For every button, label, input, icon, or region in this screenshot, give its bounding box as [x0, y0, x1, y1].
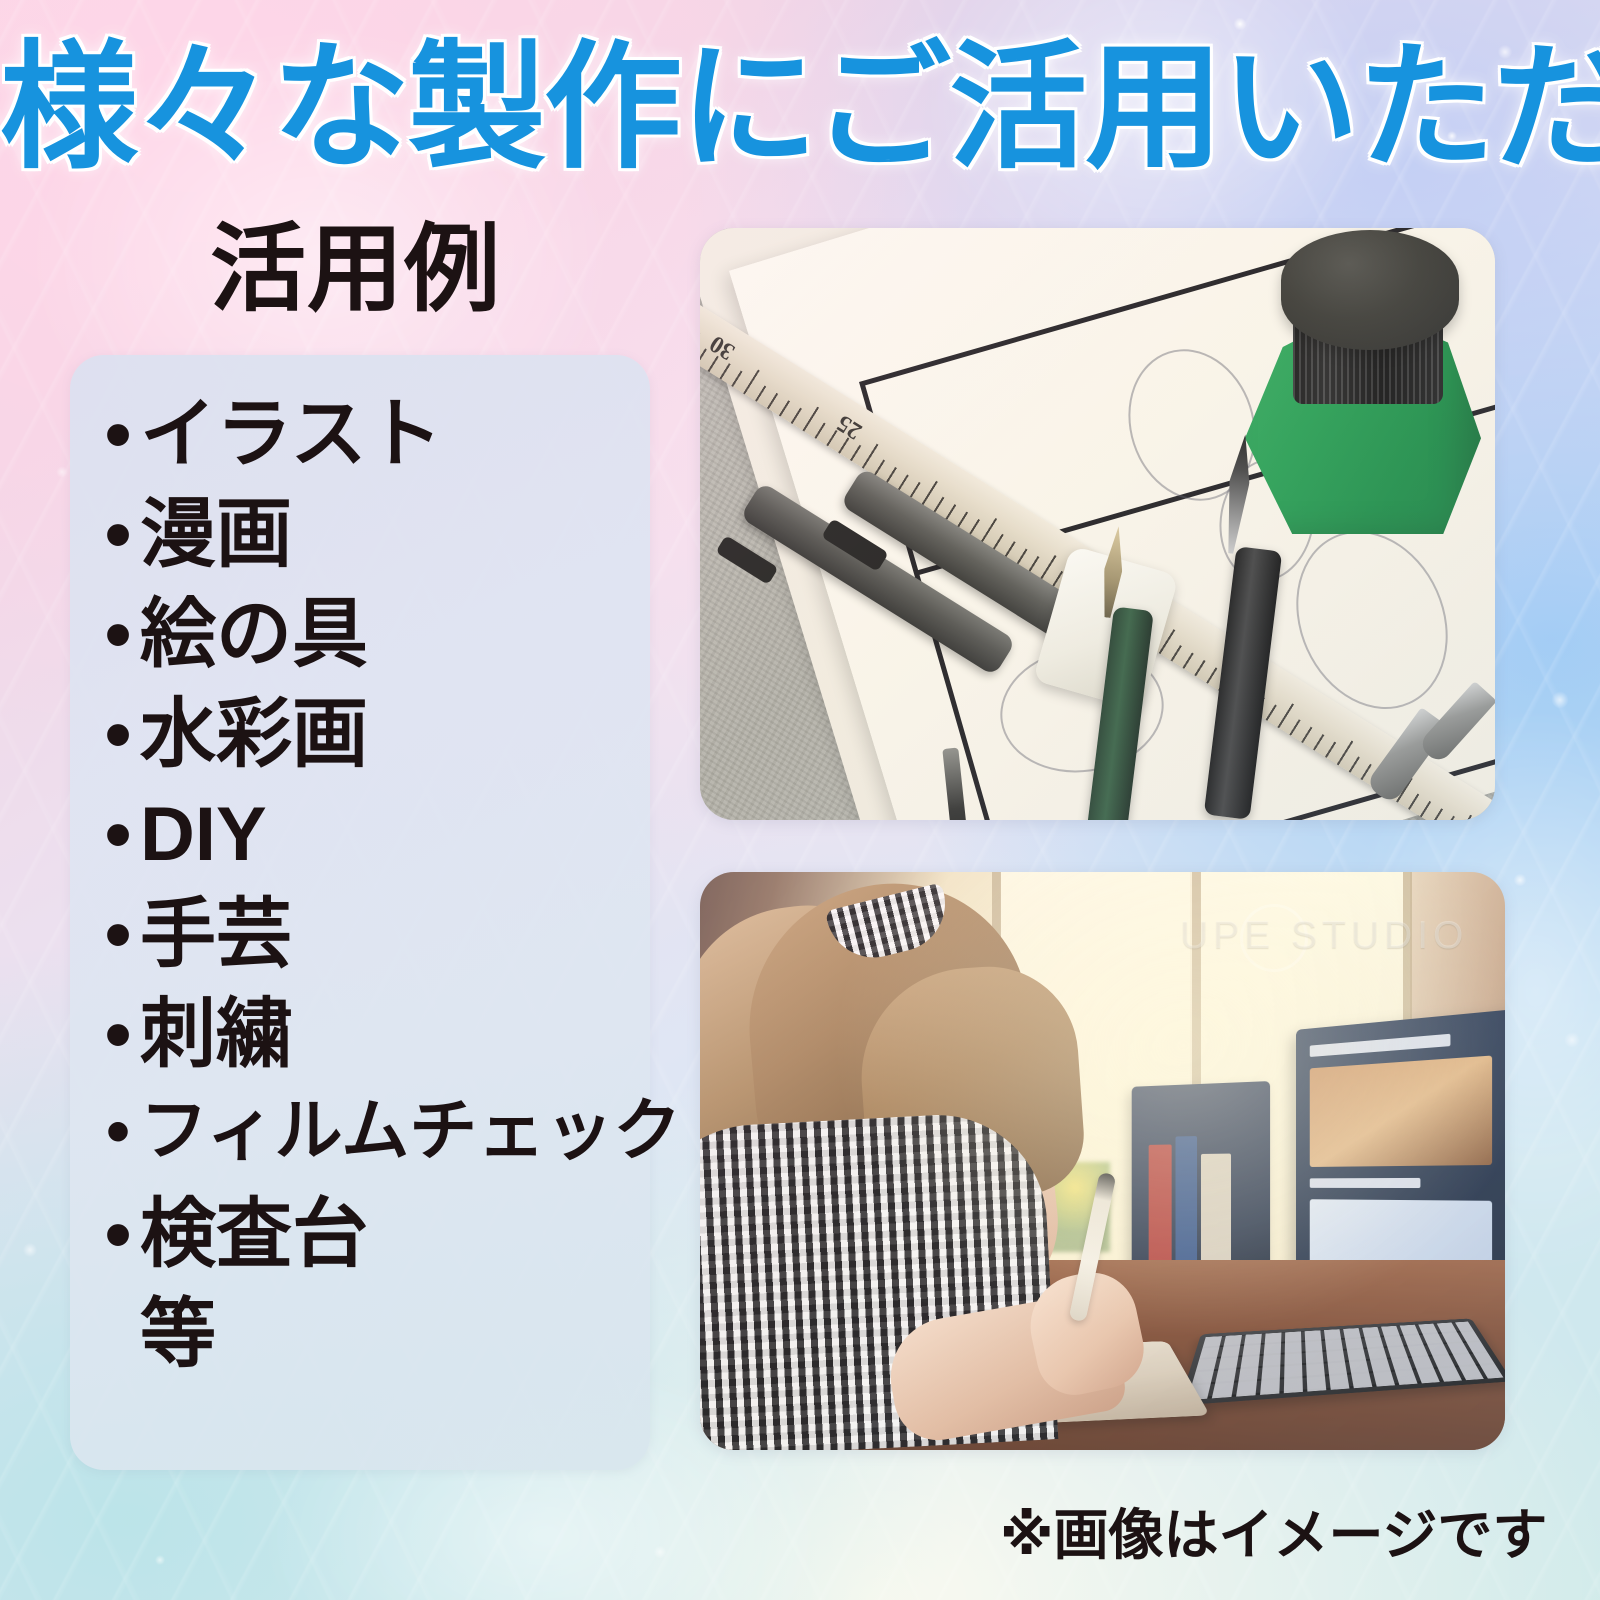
list-item: • 絵の具	[96, 597, 636, 697]
list-item-label: 刺繍	[140, 997, 292, 1073]
list-item-label: イラスト	[140, 397, 442, 473]
list-item: • 検査台	[96, 1197, 636, 1297]
screen-ui-row	[1310, 1034, 1451, 1057]
person-illustrator	[700, 872, 1110, 1450]
list-item: • DIY	[96, 797, 636, 897]
bullet-icon: •	[96, 1197, 140, 1273]
image-disclaimer: ※画像はイメージです	[1000, 1490, 1547, 1570]
ink-bottle	[1237, 234, 1487, 534]
bullet-icon: •	[96, 897, 140, 973]
shelf-book	[1176, 1136, 1198, 1264]
photo-manga-desk: 25 30	[700, 228, 1495, 820]
list-item-label: 漫画	[140, 497, 292, 573]
bullet-icon: •	[96, 497, 140, 573]
list-item-label: 水彩画	[140, 697, 368, 773]
list-item: 等	[96, 1297, 636, 1397]
list-item: • イラスト	[96, 397, 636, 497]
list-item-label: 手芸	[140, 897, 292, 973]
photo-woman-at-desk-canvas: UPE STUDIO	[700, 872, 1505, 1450]
shelf-book	[1201, 1154, 1231, 1265]
screen-ui-row	[1310, 1178, 1421, 1188]
list-item-label: 検査台	[140, 1197, 368, 1273]
list-item-label: 等	[140, 1297, 216, 1373]
photo-woman-at-desk: UPE STUDIO	[700, 872, 1505, 1450]
list-item-label: DIY	[140, 797, 267, 873]
bullet-icon: •	[96, 697, 140, 773]
shelf-book	[1149, 1144, 1172, 1263]
bullet-icon: •	[96, 797, 140, 873]
list-item: • フィルムチェック	[96, 1097, 636, 1197]
usage-list-panel: • イラスト • 漫画 • 絵の具 • 水彩画 • DIY • 手芸	[70, 355, 650, 1470]
list-item: • 手芸	[96, 897, 636, 997]
promo-poster: 様々な製作にご活用いただけます 活用例 • イラスト • 漫画 • 絵の具 • …	[0, 0, 1600, 1600]
list-item: • 刺繍	[96, 997, 636, 1097]
bullet-icon: •	[96, 1097, 140, 1165]
page-title: 様々な製作にご活用いただけます	[0, 34, 1600, 183]
ink-bottle-cap	[1281, 230, 1459, 350]
bullet-icon: •	[96, 597, 140, 673]
bullet-icon: •	[96, 397, 140, 473]
list-item-label: 絵の具	[140, 597, 368, 673]
screen-photo-thumb	[1310, 1056, 1492, 1167]
usage-list: • イラスト • 漫画 • 絵の具 • 水彩画 • DIY • 手芸	[96, 397, 636, 1397]
list-item: • 漫画	[96, 497, 636, 597]
list-item-label: フィルムチェック	[140, 1097, 681, 1165]
section-heading-usage-examples: 活用例	[210, 222, 501, 318]
photo-manga-desk-canvas: 25 30	[700, 228, 1495, 820]
bullet-icon: •	[96, 997, 140, 1073]
list-item: • 水彩画	[96, 697, 636, 797]
